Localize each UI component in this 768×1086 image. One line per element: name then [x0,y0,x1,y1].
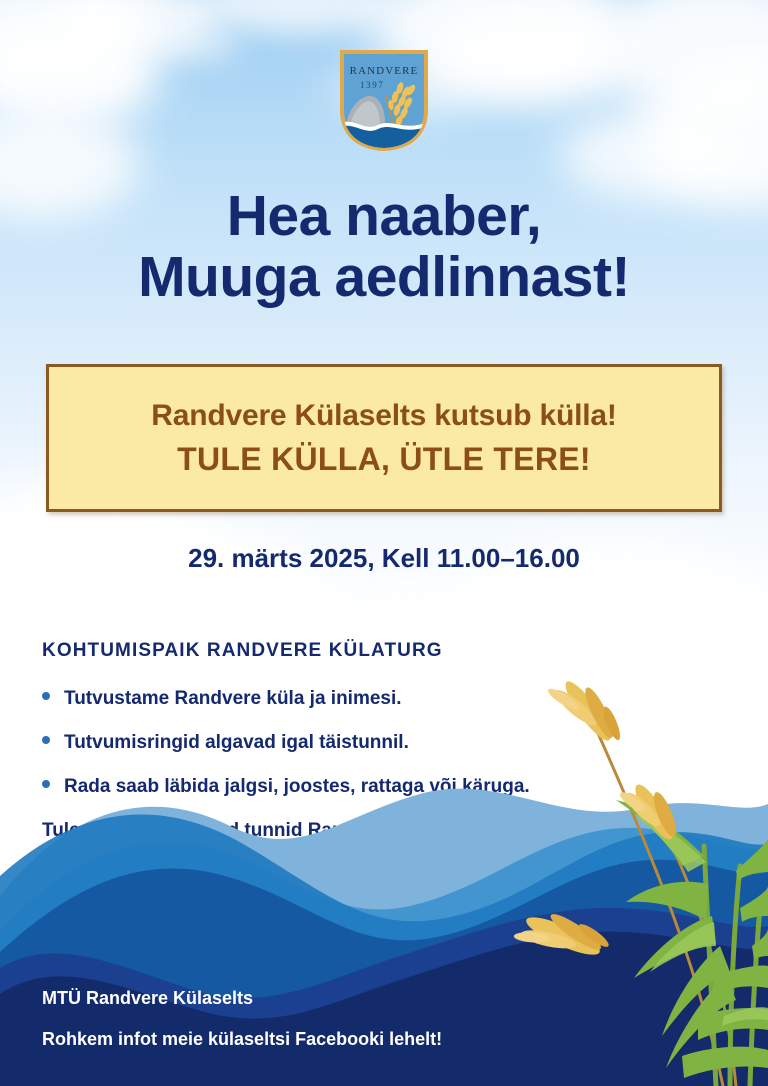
event-date-time: 29. märts 2025, Kell 11.00–16.00 [0,543,768,574]
list-item: Tutvustame Randvere küla ja inimesi. [42,688,602,710]
callout-line-2: TULE KÜLLA, ÜTLE TERE! [177,441,591,478]
poster-headline: Hea naaber, Muuga aedlinnast! [0,186,768,308]
emblem-container: RANDVERE 1397 [0,48,768,158]
list-item-label: Tutvumisringid algavad igal täistunnil. [64,732,409,754]
more-info-text: Rohkem infot meie külaseltsi Facebooki l… [42,1029,582,1050]
callout-line-1: Randvere Külaselts kutsub külla! [151,399,616,433]
meeting-place-heading: KOHTUMISPAIK RANDVERE KÜLATURG [42,640,602,662]
list-item-label: Tutvustame Randvere küla ja inimesi. [64,688,402,710]
callout-box: Randvere Külaselts kutsub külla! TULE KÜ… [46,364,722,512]
poster-canvas: RANDVERE 1397 Hea naaber, Muuga aedlinna… [0,0,768,1086]
bullet-dot-icon [42,692,50,700]
emblem-name: RANDVERE [350,65,419,77]
bullet-dot-icon [42,736,50,744]
organization-name: MTÜ Randvere Külaselts [42,988,582,1009]
randvere-coat-of-arms-icon: RANDVERE 1397 [338,48,430,158]
headline-line-2: Muuga aedlinnast! [0,247,768,308]
emblem-year: 1397 [360,80,384,90]
headline-line-1: Hea naaber, [227,184,542,248]
footer-block: MTÜ Randvere Külaselts Rohkem infot meie… [42,988,582,1050]
list-item: Tutvumisringid algavad igal täistunnil. [42,732,602,754]
